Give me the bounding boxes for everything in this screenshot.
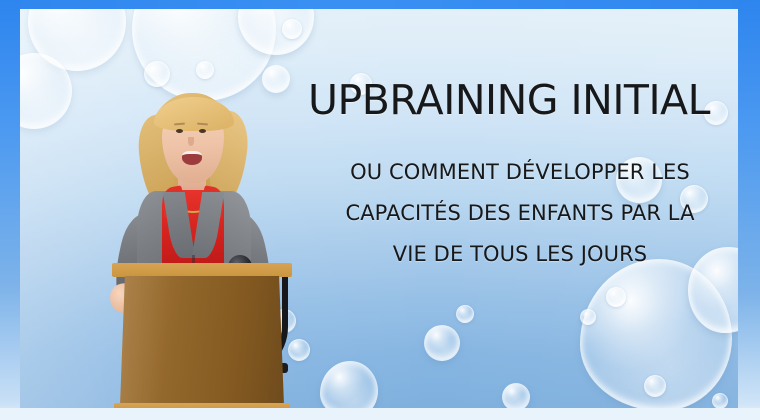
presenter-nose [188, 137, 194, 146]
bubble-decoration [424, 325, 460, 361]
presenter-eye-left [176, 129, 183, 133]
podium [112, 263, 292, 408]
bubble-decoration [320, 361, 378, 408]
frame-border-left [0, 0, 20, 420]
slide-subtitle: OU COMMENT DÉVELOPPER LES CAPACITÉS DES … [320, 152, 720, 275]
frame-border-top [0, 0, 760, 9]
frame-border-right [738, 0, 760, 420]
slide-frame: UPBRAINING INITIAL OU COMMENT DÉVELOPPER… [0, 0, 760, 420]
bubble-decoration [712, 393, 728, 408]
bubble-decoration [456, 305, 474, 323]
bubble-decoration [282, 19, 302, 39]
presenter-mouth [182, 151, 202, 165]
bubble-decoration [644, 375, 666, 397]
slide-subtitle-line-1: OU COMMENT DÉVELOPPER LES [320, 152, 720, 193]
podium-body [120, 276, 284, 406]
slide-subtitle-line-3: VIE DE TOUS LES JOURS [320, 234, 720, 275]
presenter-eye-right [199, 129, 206, 133]
frame-border-bottom [0, 408, 760, 420]
podium-base-trim [114, 403, 290, 408]
bubble-decoration [580, 309, 596, 325]
presentation-slide: UPBRAINING INITIAL OU COMMENT DÉVELOPPER… [20, 9, 738, 408]
bubble-decoration [196, 61, 214, 79]
slide-subtitle-line-2: CAPACITÉS DES ENFANTS PAR LA [320, 193, 720, 234]
bubble-decoration [144, 61, 170, 87]
slide-title: UPBRAINING INITIAL [308, 79, 738, 122]
bubble-decoration [606, 287, 626, 307]
podium-top-trim [112, 263, 292, 277]
bubble-decoration [502, 383, 530, 408]
